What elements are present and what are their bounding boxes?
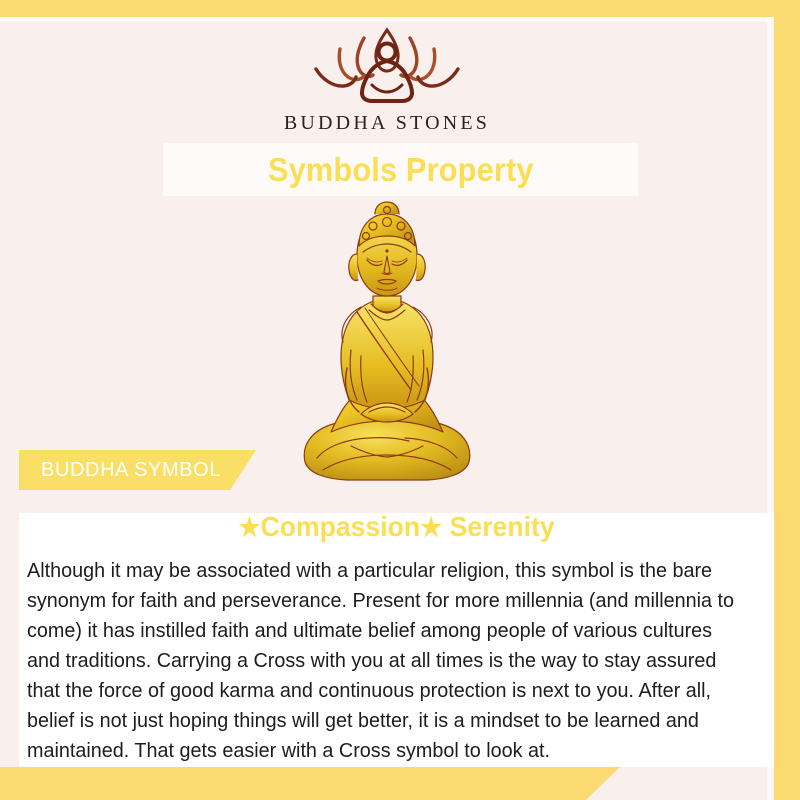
ribbon-label: BUDDHA SYMBOL: [41, 459, 221, 482]
attribute-compassion: Compassion: [261, 511, 421, 542]
star-icon-1: ★: [238, 512, 260, 542]
golden-seated-buddha-statue-icon: [287, 200, 487, 490]
brand-logo: BUDDHA STONES: [0, 22, 774, 135]
star-icon-2: ★: [420, 512, 442, 542]
brand-wordmark: BUDDHA STONES: [284, 112, 490, 135]
lotus-meditation-figure-icon: [292, 22, 482, 108]
section-ribbon: BUDDHA SYMBOL: [19, 450, 256, 490]
frame-right-bar: [774, 0, 800, 800]
frame-top-bar: [0, 0, 800, 17]
page-title: Symbols Property: [268, 151, 534, 189]
attribute-serenity: Serenity: [450, 511, 555, 542]
title-band: Symbols Property: [163, 143, 638, 196]
frame-bottom-accent-bar: [0, 767, 620, 800]
description-paragraph: Although it may be associated with a par…: [27, 556, 743, 766]
promo-banner: BUDDHA STONES Symbols Property: [0, 0, 800, 800]
attributes-headline: ★Compassion★ Serenity: [38, 511, 755, 543]
